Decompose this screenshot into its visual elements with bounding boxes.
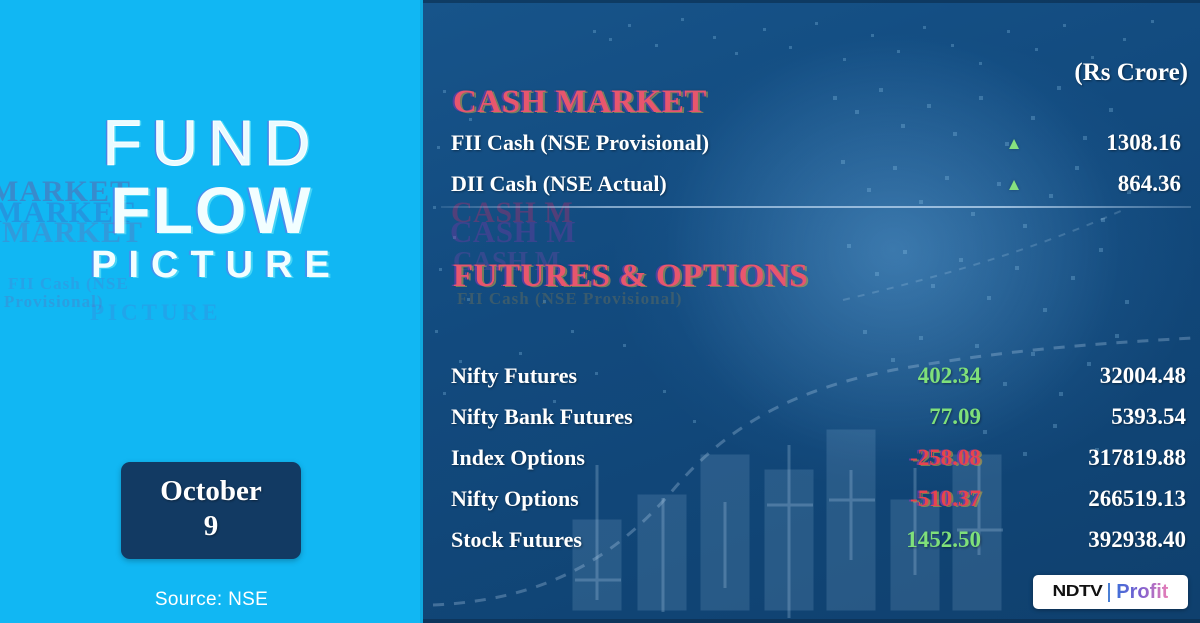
section-divider [441,206,1191,208]
date-month: October [121,474,301,509]
fno-row-open-interest: 392938.40 [981,527,1196,553]
cash-market-row: FII Cash (NSE Provisional) ▲ 1308.16 [451,128,1191,158]
panel-top-edge [423,0,1200,3]
cash-row-value: 1308.16 [1031,130,1191,156]
panel-bottom-edge [423,619,1200,623]
fno-row-label: Nifty Futures [451,363,796,389]
date-badge: October 9 [121,462,301,559]
futures-options-heading: FUTURES & OPTIONS [453,258,808,295]
fno-row-net: -258.08 [796,445,981,471]
fno-row-net: -510.37 [796,486,981,512]
fno-row-open-interest: 317819.88 [981,445,1196,471]
ghost-artifact-text: PICTURE [90,300,222,326]
wordmark-line-fund: FUND [0,110,423,177]
units-label: (Rs Crore) [1074,59,1188,87]
futures-options-row: Nifty Bank Futures 77.09 5393.54 [451,402,1196,432]
ghost-artifact-text: Provisional) [4,292,104,312]
futures-options-row: Nifty Options -510.37 266519.13 [451,484,1196,514]
wordmark-line-flow: FLOW [0,177,423,243]
fund-flow-wordmark: FUND FLOW PICTURE [0,110,423,289]
futures-options-row: Stock Futures 1452.50 392938.40 [451,525,1196,555]
fno-row-label: Nifty Options [451,486,796,512]
fno-row-label: Nifty Bank Futures [451,404,796,430]
futures-options-row: Nifty Futures 402.34 32004.48 [451,361,1196,391]
wordmark-line-picture: PICTURE [0,243,423,289]
trend-up-icon: ▲ [997,135,1031,152]
ndtv-profit-logo: NDTV Profit [1033,575,1188,609]
fno-row-label: Index Options [451,445,796,471]
futures-options-row: Index Options -258.08 317819.88 [451,443,1196,473]
fno-row-open-interest: 32004.48 [981,363,1196,389]
source-label: Source: NSE [0,589,423,611]
cash-row-label: DII Cash (NSE Actual) [451,171,997,197]
fno-row-net: 77.09 [796,404,981,430]
profit-wordmark: Profit [1116,581,1168,604]
cash-row-value: 864.36 [1031,171,1191,197]
fno-row-net: 402.34 [796,363,981,389]
ndtv-wordmark: NDTV [1053,583,1103,601]
fno-row-open-interest: 266519.13 [981,486,1196,512]
cash-market-heading: CASH MARKET [453,84,707,121]
fno-row-net: 1452.50 [796,527,981,553]
date-day: 9 [121,509,301,544]
logo-divider [1108,583,1110,602]
fund-flow-picture-graphic: MARKET MARKET MARKET FII Cash (NSE Provi… [0,0,1200,623]
cash-market-row: DII Cash (NSE Actual) ▲ 864.36 [451,169,1191,199]
data-panel: (Rs Crore) CASH MARKET FII Cash (NSE Pro… [423,0,1200,623]
cash-row-label: FII Cash (NSE Provisional) [451,130,997,156]
branding-panel: MARKET MARKET MARKET FII Cash (NSE Provi… [0,0,423,623]
fno-row-label: Stock Futures [451,527,796,553]
trend-up-icon: ▲ [997,176,1031,193]
fno-row-open-interest: 5393.54 [981,404,1196,430]
